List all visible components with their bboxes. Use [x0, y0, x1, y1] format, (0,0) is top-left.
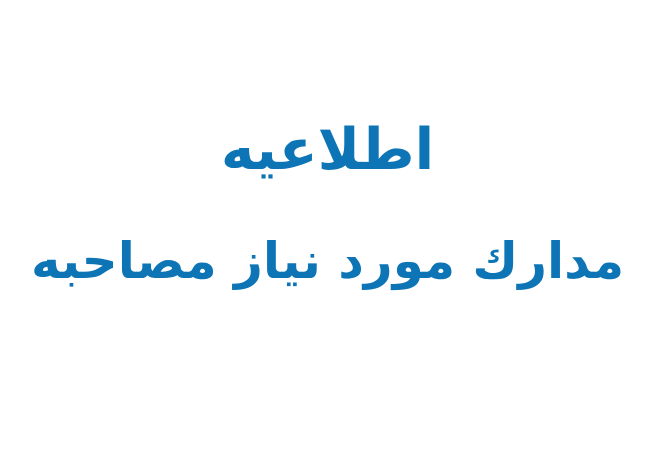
notice-heading: اطلاعیه	[0, 118, 655, 184]
notice-subheading: مدارك مورد نیاز مصاحبه	[0, 231, 655, 291]
notice-canvas: اطلاعیه مدارك مورد نیاز مصاحبه	[0, 0, 655, 449]
